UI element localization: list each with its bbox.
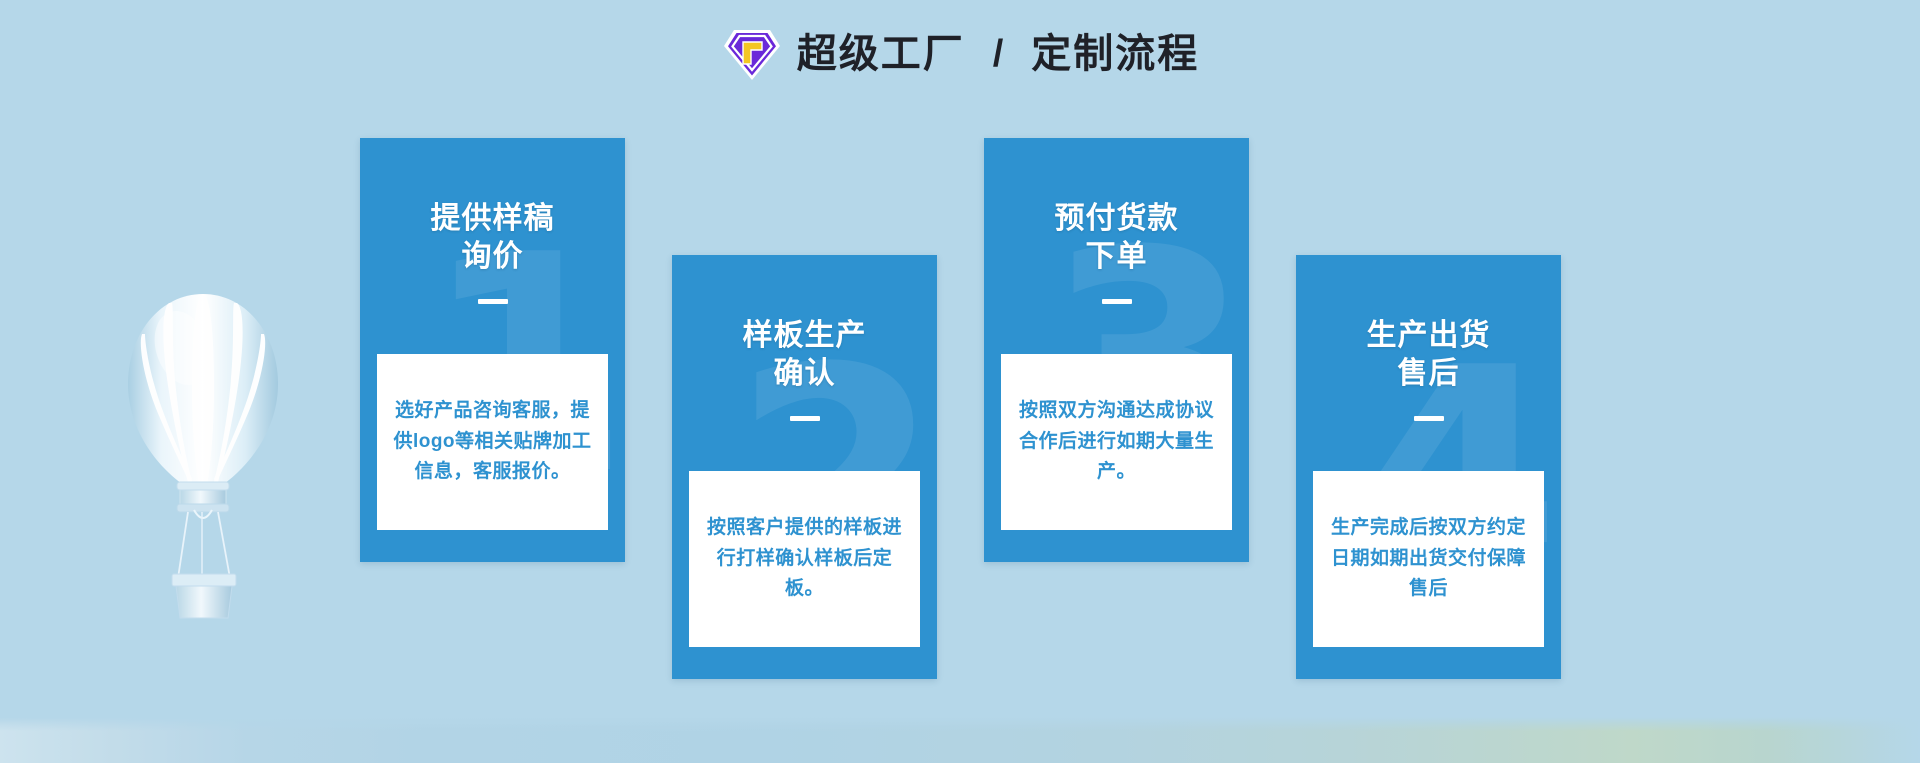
step-card-content: 生产出货 售后 (1296, 255, 1561, 679)
step-title: 生产出货 售后 (1367, 317, 1491, 394)
step-title: 样板生产 确认 (743, 317, 867, 394)
step-divider-rule (1414, 416, 1444, 421)
page-subtitle: 定制流程 (1031, 34, 1199, 74)
step-card-1[interactable]: 1 提供样稿 询价 选好产品咨询客服，提供logo等相关贴牌加工信息，客服报价。 (360, 138, 625, 562)
page-header: 超级工厂 / 定制流程 (0, 24, 1920, 84)
step-card-2[interactable]: 2 样板生产 确认 按照客户提供的样板进行打样确认样板后定板。 (672, 255, 937, 679)
step-title: 提供样稿 询价 (431, 200, 555, 277)
step-divider-rule (790, 416, 820, 421)
step-divider-rule (478, 299, 508, 304)
hot-air-balloon-icon (118, 292, 288, 622)
step-card-content: 预付货款 下单 (984, 138, 1249, 562)
brand-title: 超级工厂 (797, 34, 965, 74)
step-divider-rule (1102, 299, 1132, 304)
step-card-4[interactable]: 4 生产出货 售后 生产完成后按双方约定日期如期出货交付保障售后 (1296, 255, 1561, 679)
step-title: 预付货款 下单 (1055, 200, 1179, 277)
title-separator: / (993, 35, 1004, 73)
ground-strip-decoration (0, 717, 1920, 763)
step-card-3[interactable]: 3 预付货款 下单 按照双方沟通达成协议合作后进行如期大量生产。 (984, 138, 1249, 562)
diamond-logo-icon (721, 26, 783, 84)
step-card-content: 样板生产 确认 (672, 255, 937, 679)
step-card-content: 提供样稿 询价 (360, 138, 625, 562)
page-root: 超级工厂 / 定制流程 (0, 0, 1920, 763)
